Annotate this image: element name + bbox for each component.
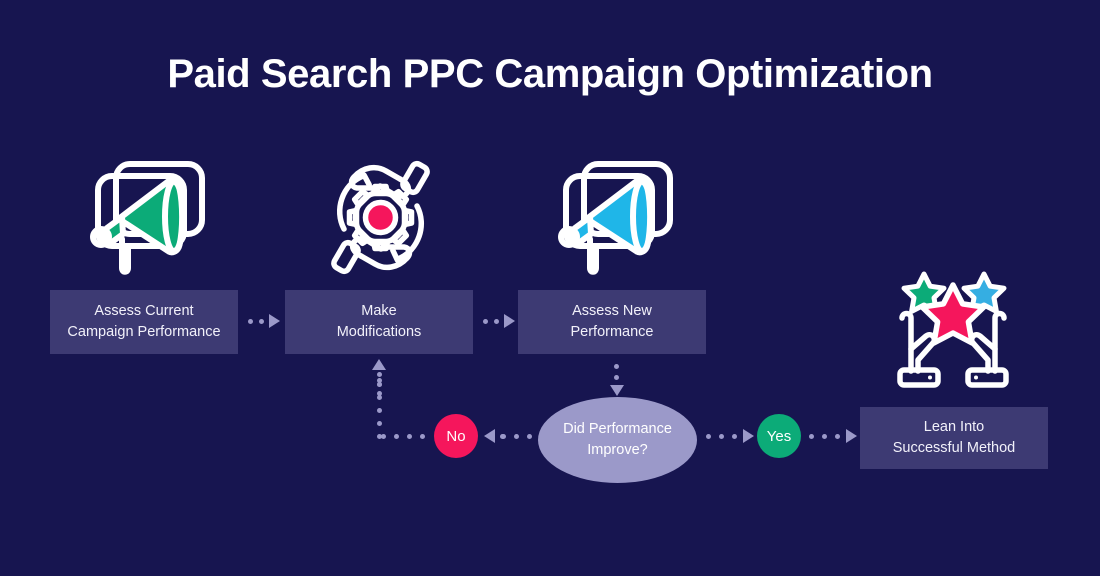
connector-arrow-down [610,385,624,396]
connector-dot [500,434,505,439]
connector-dot [514,434,519,439]
decision-line1: Did Performance [563,421,672,437]
connector-arrow-right [504,314,515,328]
process-box-line1: Assess New [570,301,653,322]
connector-dot [822,434,827,439]
process-box-assess-current[interactable]: Assess Current Campaign Performance [50,290,238,354]
connector-dot [248,319,253,324]
connector-dot [377,421,382,426]
connector-dot [259,319,264,324]
connector-dot [835,434,840,439]
connector-dot [527,434,532,439]
megaphone-screen-green-icon [82,155,212,285]
infographic-canvas: Paid Search PPC Campaign Optimization [0,0,1100,576]
connector-dot [377,391,382,396]
branch-badge-yes-label: Yes [767,428,791,445]
decision-line2: Improve? [587,442,647,458]
process-box-line2: Campaign Performance [67,322,220,343]
connector-dot [420,434,425,439]
process-box-lean-into-successful-method[interactable]: Lean Into Successful Method [860,407,1048,469]
connector-dot [483,319,488,324]
branch-badge-yes[interactable]: Yes [757,414,801,458]
process-box-line2: Successful Method [893,438,1016,459]
connector-dot [377,372,382,377]
connector-arrow-right [743,429,754,443]
connector-dot [706,434,711,439]
connector-arrow-right [846,429,857,443]
connector-dot [377,378,382,383]
connector-dot [809,434,814,439]
process-box-line1: Assess Current [67,301,220,322]
process-box-line2: Performance [570,322,653,343]
connector-dot [719,434,724,439]
page-title: Paid Search PPC Campaign Optimization [0,52,1100,97]
branch-badge-no[interactable]: No [434,414,478,458]
decision-node-did-performance-improve[interactable]: Did Performance Improve? [538,397,697,483]
process-box-line1: Lean Into [893,417,1016,438]
connector-dot [494,319,499,324]
process-box-make-modifications[interactable]: Make Modifications [285,290,473,354]
connector-dot [394,434,399,439]
process-box-line1: Make [337,301,422,322]
connector-dot [614,364,619,369]
connector-dot [407,434,412,439]
process-box-line2: Modifications [337,322,422,343]
connector-dot [614,375,619,380]
connector-dot [377,434,382,439]
connector-arrow-up [372,359,386,370]
hands-gear-cycle-icon [318,155,443,285]
branch-badge-no-label: No [446,428,465,445]
hands-stars-icon [888,266,1018,399]
connector-dot [377,408,382,413]
process-box-assess-new-performance[interactable]: Assess New Performance [518,290,706,354]
connector-arrow-left [484,429,495,443]
connector-arrow-right [269,314,280,328]
megaphone-screen-blue-icon [550,155,680,285]
connector-dot [732,434,737,439]
